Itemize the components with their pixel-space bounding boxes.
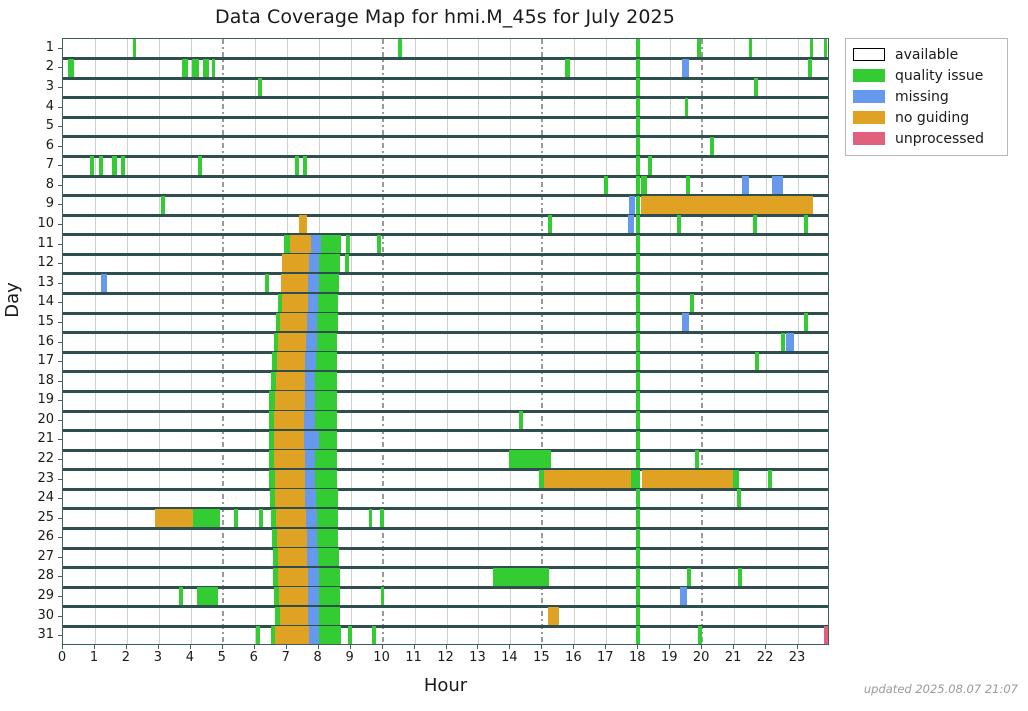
coverage-segment: [68, 59, 73, 79]
coverage-segment: [276, 372, 305, 392]
x-tick-mark: [190, 645, 191, 649]
legend-item-missing: missing: [853, 86, 998, 107]
coverage-segment: [309, 626, 319, 644]
coverage-segment: [277, 529, 306, 549]
coverage-segment: [315, 391, 336, 411]
coverage-segment: [308, 587, 319, 607]
legend-swatch-no-guiding: [853, 111, 885, 124]
coverage-segment: [810, 39, 814, 59]
x-tick-label-hour-17: 17: [590, 650, 620, 665]
coverage-segment: [319, 626, 341, 644]
coverage-segment: [636, 294, 640, 314]
coverage-map-canvas: [63, 39, 828, 644]
day-row: [63, 626, 828, 644]
x-tick-label-hour-15: 15: [526, 650, 556, 665]
coverage-segment: [687, 568, 691, 588]
coverage-segment: [308, 294, 318, 314]
coverage-segment: [636, 137, 640, 157]
coverage-segment: [315, 450, 337, 470]
day-row: [63, 333, 828, 353]
y-tick-label-day-28: 28: [14, 569, 54, 582]
y-tick-label-day-19: 19: [14, 393, 54, 406]
coverage-segment: [193, 509, 219, 529]
day-row: [63, 470, 828, 490]
legend-label: quality issue: [895, 69, 983, 83]
coverage-segment: [636, 254, 640, 274]
coverage-segment: [256, 626, 260, 644]
coverage-segment: [290, 235, 311, 255]
coverage-segment: [274, 411, 304, 431]
x-tick-label-hour-18: 18: [622, 650, 652, 665]
day-row: [63, 391, 828, 411]
x-tick-label-hour-1: 1: [79, 650, 109, 665]
coverage-segment: [305, 391, 316, 411]
coverage-segment: [317, 333, 337, 353]
coverage-segment: [99, 156, 103, 176]
coverage-segment: [636, 313, 640, 333]
coverage-segment: [749, 39, 753, 59]
coverage-segment: [274, 431, 304, 451]
coverage-segment: [804, 313, 808, 333]
x-tick-mark: [158, 645, 159, 649]
coverage-segment: [316, 352, 336, 372]
x-tick-label-hour-11: 11: [399, 650, 429, 665]
y-tick-label-day-22: 22: [14, 452, 54, 465]
coverage-segment: [315, 470, 337, 490]
y-tick-label-day-16: 16: [14, 335, 54, 348]
coverage-segment: [275, 489, 305, 509]
coverage-segment: [101, 274, 107, 294]
x-tick-label-hour-8: 8: [303, 650, 333, 665]
coverage-segment: [636, 411, 640, 431]
y-tick-label-day-24: 24: [14, 491, 54, 504]
coverage-segment: [636, 607, 640, 627]
coverage-segment: [345, 254, 349, 274]
day-row: [63, 411, 828, 431]
coverage-segment: [636, 626, 640, 644]
y-tick-label-day-2: 2: [14, 60, 54, 73]
coverage-segment: [685, 98, 689, 118]
coverage-segment: [548, 215, 552, 235]
day-row: [63, 587, 828, 607]
coverage-segment: [278, 333, 305, 353]
day-row: [63, 215, 828, 235]
coverage-segment: [317, 313, 337, 333]
coverage-segment: [398, 39, 402, 59]
x-tick-mark: [477, 645, 478, 649]
day-row: [63, 98, 828, 118]
day-row: [63, 235, 828, 255]
y-tick-label-day-20: 20: [14, 413, 54, 426]
coverage-segment: [319, 587, 340, 607]
coverage-segment: [493, 568, 549, 588]
x-tick-label-hour-21: 21: [718, 650, 748, 665]
x-tick-label-hour-20: 20: [686, 650, 716, 665]
coverage-segment: [636, 98, 640, 118]
coverage-segment: [636, 274, 640, 294]
coverage-segment: [306, 509, 317, 529]
coverage-segment: [304, 411, 315, 431]
coverage-segment: [197, 587, 219, 607]
coverage-segment: [305, 470, 316, 490]
coverage-segment: [316, 489, 338, 509]
coverage-segment: [307, 313, 318, 333]
x-tick-label-hour-10: 10: [367, 650, 397, 665]
y-tick-label-day-3: 3: [14, 80, 54, 93]
coverage-segment: [682, 59, 689, 79]
coverage-segment: [808, 59, 812, 79]
day-row: [63, 196, 828, 216]
day-row: [63, 352, 828, 372]
x-tick-label-hour-13: 13: [462, 650, 492, 665]
x-tick-label-hour-22: 22: [750, 650, 780, 665]
coverage-segment: [319, 607, 340, 627]
legend-item-unprocessed: unprocessed: [853, 128, 998, 149]
coverage-segment: [212, 59, 215, 79]
coverage-segment: [307, 529, 318, 549]
y-tick-label-day-11: 11: [14, 237, 54, 250]
y-tick-label-day-23: 23: [14, 472, 54, 485]
coverage-segment: [636, 39, 640, 59]
coverage-segment: [276, 509, 305, 529]
x-tick-mark: [605, 645, 606, 649]
coverage-segment: [319, 568, 340, 588]
coverage-segment: [648, 156, 652, 176]
page-title: Data Coverage Map for hmi.M_45s for July…: [0, 6, 890, 28]
y-tick-label-day-25: 25: [14, 511, 54, 524]
x-tick-mark: [765, 645, 766, 649]
x-tick-label-hour-7: 7: [271, 650, 301, 665]
coverage-segment: [304, 431, 319, 451]
coverage-segment: [198, 156, 202, 176]
coverage-segment: [636, 470, 640, 490]
day-row: [63, 117, 828, 137]
coverage-segment: [636, 568, 640, 588]
coverage-segment: [234, 509, 238, 529]
coverage-segment: [282, 254, 309, 274]
coverage-segment: [636, 548, 640, 568]
y-tick-label-day-17: 17: [14, 354, 54, 367]
coverage-segment: [305, 372, 316, 392]
legend-item-available: available: [853, 44, 998, 65]
x-tick-label-hour-0: 0: [47, 650, 77, 665]
x-tick-mark: [446, 645, 447, 649]
coverage-segment: [641, 176, 647, 196]
coverage-segment: [305, 489, 316, 509]
coverage-segment: [318, 548, 339, 568]
y-tick-label-day-5: 5: [14, 119, 54, 132]
day-row: [63, 372, 828, 392]
coverage-segment: [636, 391, 640, 411]
coverage-segment: [317, 509, 339, 529]
coverage-segment: [308, 274, 318, 294]
coverage-segment: [636, 196, 640, 216]
x-tick-mark: [62, 645, 63, 649]
coverage-segment: [680, 587, 686, 607]
coverage-segment: [112, 156, 118, 176]
coverage-segment: [258, 78, 262, 98]
coverage-segment: [308, 607, 319, 627]
coverage-segment: [305, 450, 316, 470]
coverage-segment: [315, 372, 336, 392]
coverage-segment: [677, 215, 681, 235]
coverage-segment: [315, 411, 337, 431]
coverage-segment: [697, 39, 701, 59]
x-tick-mark: [94, 645, 95, 649]
x-tick-mark: [541, 645, 542, 649]
x-tick-mark: [350, 645, 351, 649]
x-tick-label-hour-14: 14: [494, 650, 524, 665]
coverage-segment: [369, 509, 373, 529]
coverage-segment: [203, 59, 209, 79]
y-tick-label-day-8: 8: [14, 178, 54, 191]
day-row: [63, 568, 828, 588]
x-tick-mark: [573, 645, 574, 649]
y-tick-label-day-15: 15: [14, 315, 54, 328]
coverage-segment: [636, 529, 640, 549]
x-tick-label-hour-12: 12: [431, 650, 461, 665]
y-tick-label-day-9: 9: [14, 197, 54, 210]
x-tick-label-hour-2: 2: [111, 650, 141, 665]
coverage-segment: [641, 196, 813, 216]
y-tick-label-day-31: 31: [14, 628, 54, 641]
x-axis-label: Hour: [62, 675, 829, 696]
y-tick-label-day-6: 6: [14, 139, 54, 152]
y-tick-label-day-26: 26: [14, 530, 54, 543]
coverage-segment: [155, 509, 193, 529]
legend-label: missing: [895, 90, 949, 104]
coverage-segment: [306, 333, 317, 353]
day-row: [63, 509, 828, 529]
coverage-segment: [781, 333, 785, 353]
coverage-segment: [686, 176, 690, 196]
x-tick-mark: [637, 645, 638, 649]
coverage-segment: [299, 215, 307, 235]
coverage-segment: [768, 470, 772, 490]
coverage-segment: [565, 59, 569, 79]
coverage-segment: [695, 450, 699, 470]
coverage-segment: [636, 352, 640, 372]
x-tick-mark: [222, 645, 223, 649]
coverage-segment: [738, 568, 742, 588]
coverage-segment: [277, 352, 305, 372]
legend-label: no guiding: [895, 111, 969, 125]
coverage-segment: [755, 352, 759, 372]
coverage-segment: [348, 626, 352, 644]
x-tick-mark: [254, 645, 255, 649]
coverage-segment: [690, 294, 694, 314]
coverage-segment: [319, 274, 339, 294]
y-tick-label-day-12: 12: [14, 256, 54, 269]
coverage-segment: [278, 548, 307, 568]
coverage-segment: [309, 254, 319, 274]
coverage-segment: [636, 235, 640, 255]
coverage-segment: [346, 235, 350, 255]
day-row: [63, 156, 828, 176]
day-row: [63, 39, 828, 59]
coverage-segment: [824, 626, 828, 644]
y-tick-label-day-18: 18: [14, 374, 54, 387]
coverage-segment: [192, 59, 199, 79]
coverage-segment: [311, 235, 321, 255]
coverage-segment: [753, 215, 757, 235]
legend-swatch-available: [853, 48, 885, 61]
x-tick-mark: [733, 645, 734, 649]
x-tick-mark: [701, 645, 702, 649]
coverage-segment: [636, 587, 640, 607]
day-row: [63, 254, 828, 274]
coverage-segment: [628, 215, 634, 235]
coverage-segment: [509, 450, 551, 470]
coverage-segment: [278, 568, 307, 588]
y-tick-label-day-21: 21: [14, 432, 54, 445]
coverage-segment: [182, 59, 188, 79]
coverage-segment: [737, 489, 741, 509]
day-row: [63, 176, 828, 196]
coverage-segment: [636, 176, 640, 196]
coverage-segment: [308, 568, 319, 588]
x-tick-label-hour-6: 6: [239, 650, 269, 665]
x-tick-mark: [414, 645, 415, 649]
day-row: [63, 313, 828, 333]
coverage-segment: [682, 313, 688, 333]
coverage-segment: [636, 333, 640, 353]
coverage-segment: [377, 235, 381, 255]
coverage-segment: [280, 607, 309, 627]
coverage-segment: [303, 156, 307, 176]
x-tick-label-hour-19: 19: [654, 650, 684, 665]
coverage-segment: [275, 470, 305, 490]
coverage-segment: [636, 156, 640, 176]
coverage-segment: [742, 176, 749, 196]
coverage-segment: [642, 470, 733, 490]
day-row: [63, 450, 828, 470]
legend: availablequality issuemissingno guidingu…: [845, 38, 1008, 156]
coverage-segment: [710, 137, 714, 157]
day-row: [63, 529, 828, 549]
y-tick-label-day-10: 10: [14, 217, 54, 230]
y-tick-label-day-14: 14: [14, 295, 54, 308]
day-row: [63, 59, 828, 79]
coverage-segment: [636, 117, 640, 137]
coverage-segment: [636, 59, 640, 79]
coverage-segment: [636, 372, 640, 392]
day-row: [63, 137, 828, 157]
legend-item-quality-issue: quality issue: [853, 65, 998, 86]
coverage-segment: [317, 529, 338, 549]
day-row: [63, 548, 828, 568]
y-tick-label-day-4: 4: [14, 100, 54, 113]
coverage-segment: [804, 215, 808, 235]
x-tick-label-hour-3: 3: [143, 650, 173, 665]
coverage-segment: [179, 587, 183, 607]
y-tick-label-day-29: 29: [14, 589, 54, 602]
coverage-segment: [636, 450, 640, 470]
coverage-segment: [275, 626, 310, 644]
x-tick-label-hour-16: 16: [558, 650, 588, 665]
coverage-segment: [305, 352, 316, 372]
day-row: [63, 607, 828, 627]
legend-item-no-guiding: no guiding: [853, 107, 998, 128]
coverage-segment: [295, 156, 299, 176]
coverage-segment: [265, 274, 269, 294]
coverage-segment: [629, 196, 635, 216]
coverage-segment: [318, 294, 338, 314]
coverage-segment: [636, 509, 640, 529]
coverage-segment: [636, 215, 640, 235]
coverage-segment: [636, 78, 640, 98]
coverage-segment: [161, 196, 165, 216]
updated-timestamp: updated 2025.08.07 21:07: [864, 682, 1018, 696]
x-tick-label-hour-23: 23: [782, 650, 812, 665]
coverage-segment: [279, 587, 308, 607]
day-row: [63, 274, 828, 294]
coverage-segment: [259, 509, 263, 529]
coverage-map-plot: [62, 38, 829, 645]
coverage-segment: [282, 294, 308, 314]
coverage-segment: [604, 176, 608, 196]
coverage-segment: [319, 254, 339, 274]
coverage-segment: [636, 431, 640, 451]
coverage-segment: [786, 333, 794, 353]
legend-swatch-unprocessed: [853, 132, 885, 145]
y-tick-label-day-13: 13: [14, 276, 54, 289]
coverage-segment: [733, 470, 739, 490]
coverage-segment: [274, 450, 305, 470]
y-tick-label-day-7: 7: [14, 158, 54, 171]
day-row: [63, 78, 828, 98]
day-row: [63, 431, 828, 451]
coverage-segment: [307, 548, 318, 568]
coverage-segment: [321, 235, 341, 255]
coverage-segment: [824, 39, 828, 59]
coverage-segment: [772, 176, 782, 196]
y-tick-label-day-27: 27: [14, 550, 54, 563]
legend-swatch-quality-issue: [853, 69, 885, 82]
legend-label: available: [895, 48, 958, 62]
coverage-segment: [121, 156, 125, 176]
coverage-segment: [372, 626, 376, 644]
x-tick-mark: [286, 645, 287, 649]
day-row: [63, 489, 828, 509]
coverage-segment: [380, 509, 384, 529]
y-tick-label-day-1: 1: [14, 41, 54, 54]
coverage-segment: [636, 489, 640, 509]
legend-label: unprocessed: [895, 132, 984, 146]
coverage-segment: [548, 607, 559, 627]
x-tick-mark: [669, 645, 670, 649]
coverage-segment: [381, 587, 385, 607]
coverage-segment: [319, 431, 337, 451]
coverage-segment: [275, 391, 305, 411]
coverage-segment: [133, 39, 137, 59]
coverage-segment: [281, 274, 308, 294]
x-tick-mark: [797, 645, 798, 649]
x-tick-mark: [318, 645, 319, 649]
coverage-segment: [698, 626, 702, 644]
legend-swatch-missing: [853, 90, 885, 103]
y-tick-label-day-30: 30: [14, 609, 54, 622]
coverage-segment: [754, 78, 758, 98]
coverage-segment: [280, 313, 306, 333]
x-tick-label-hour-9: 9: [335, 650, 365, 665]
coverage-segment: [544, 470, 631, 490]
coverage-segment: [519, 411, 523, 431]
coverage-segment: [90, 156, 94, 176]
day-row: [63, 294, 828, 314]
x-tick-mark: [509, 645, 510, 649]
x-tick-label-hour-4: 4: [175, 650, 205, 665]
